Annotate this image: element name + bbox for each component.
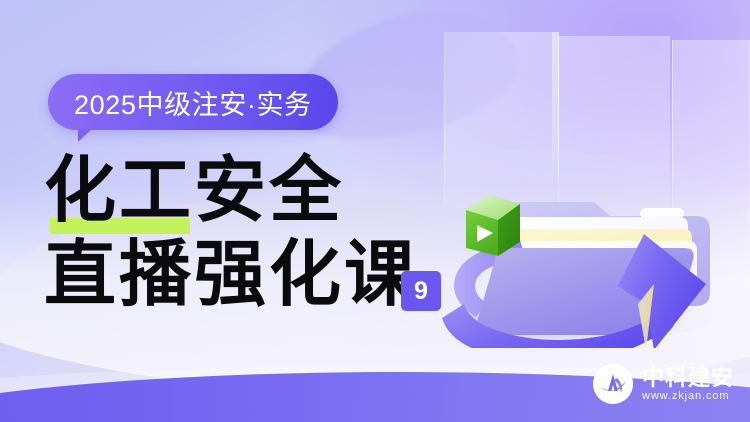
zkjan-logo-mark-icon	[593, 364, 633, 404]
folder-illustration	[418, 118, 738, 348]
brand-logo-text: 中科建安 www.zkjan.com	[642, 367, 734, 402]
title-line-1: 化工安全	[44, 152, 419, 230]
course-poster: 2025中级注安·实务 化工安全 直播强化课 9 中科建安 www.zkjan.…	[0, 0, 750, 422]
episode-badge: 9	[401, 271, 441, 311]
title-line-2: 直播强化课	[44, 236, 419, 314]
headline-block: 化工安全 直播强化课	[44, 152, 419, 314]
brand-logo: 中科建安 www.zkjan.com	[593, 364, 734, 404]
category-pill: 2025中级注安·实务	[48, 74, 338, 130]
brand-url: www.zkjan.com	[642, 391, 734, 402]
category-pill-label: 2025中级注安·实务	[74, 83, 312, 122]
brand-name: 中科建安	[642, 367, 734, 389]
